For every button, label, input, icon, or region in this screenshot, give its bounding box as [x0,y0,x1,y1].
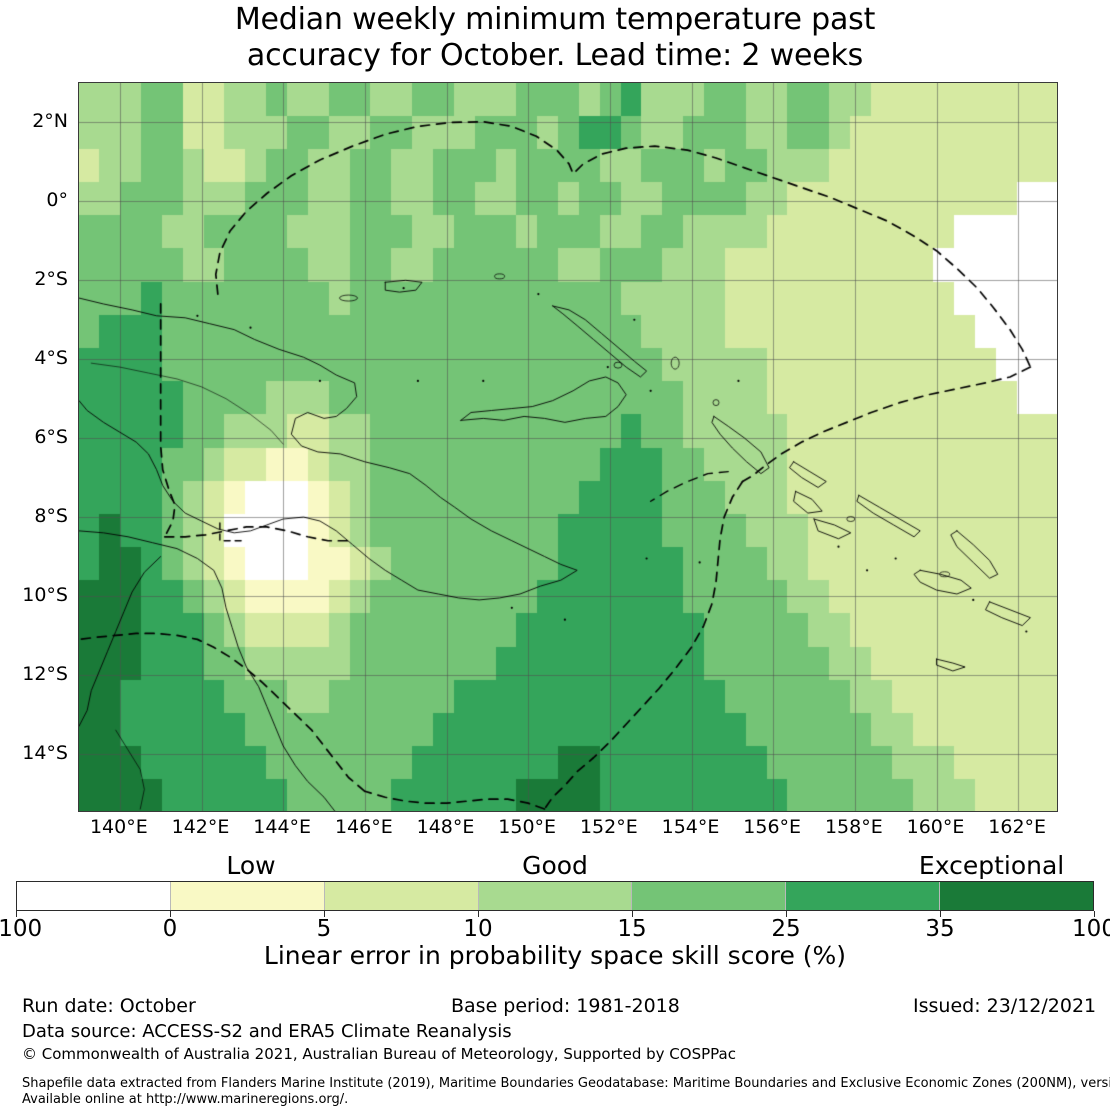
colorbar-segment-0 [17,882,171,910]
y-tick-8: 14°S [22,744,68,763]
colorbar-segment-3 [479,882,633,910]
x-tick-2: 144°E [253,818,311,837]
colorbar-ticklabel-4: 15 [617,916,646,942]
colorbar[interactable] [16,881,1094,911]
colorbar-segment-5 [786,882,940,910]
footer: Run date: October Base period: 1981-2018… [0,995,1110,1110]
colorbar-ticklabel-7: 100 [1072,916,1110,942]
page-title-line-2: accuracy for October. Lead time: 2 weeks [0,38,1110,74]
colorbar-segment-6 [940,882,1093,910]
colorbar-ticklabel-3: 10 [463,916,492,942]
colorbar-segment-2 [325,882,479,910]
y-tick-4: 6°S [34,428,68,447]
colorbar-class-good: Good [522,852,588,880]
footer-copyright: © Commonwealth of Australia 2021, Austra… [22,1045,736,1063]
footer-shapefile-line-1: Shapefile data extracted from Flanders M… [22,1076,1110,1092]
colorbar-axis-label: Linear error in probability space skill … [0,942,1110,970]
x-tick-3: 146°E [335,818,393,837]
y-tick-5: 8°S [34,507,68,526]
page-title-line-1: Median weekly minimum temperature past [0,2,1110,38]
colorbar-ticklabel-6: 35 [925,916,954,942]
page-title: Median weekly minimum temperature past a… [0,2,1110,74]
y-tick-0: 2°N [32,112,68,131]
map-plot-area[interactable] [78,82,1058,812]
x-tick-7: 154°E [662,818,720,837]
footer-shapefile-line-2: Available online at http://www.marinereg… [22,1092,348,1108]
colorbar-class-labels: LowGoodExceptional [0,852,1110,880]
x-tick-9: 158°E [825,818,883,837]
colorbar-segment-1 [171,882,325,910]
y-tick-3: 4°S [34,349,68,368]
coastline-and-eez-overlay [79,83,1058,812]
x-tick-1: 142°E [172,818,230,837]
colorbar-ticklabel-1: 0 [163,916,178,942]
map-figure [78,82,1058,812]
x-tick-10: 160°E [907,818,965,837]
footer-issued-date: Issued: 23/12/2021 [913,995,1096,1017]
colorbar-class-exceptional: Exceptional [919,852,1064,880]
colorbar-ticklabel-2: 5 [317,916,332,942]
y-tick-7: 12°S [22,665,68,684]
x-tick-11: 162°E [988,818,1046,837]
y-tick-2: 2°S [34,270,68,289]
colorbar-ticklabel-0: -100 [0,916,42,942]
colorbar-ticklabel-5: 25 [771,916,800,942]
colorbar-ticks: -1000510152535100 [0,911,1110,937]
x-tick-6: 152°E [580,818,638,837]
colorbar-segment-4 [632,882,786,910]
footer-run-date: Run date: October [22,995,196,1017]
footer-base-period: Base period: 1981-2018 [451,995,680,1017]
x-tick-5: 150°E [498,818,556,837]
colorbar-class-low: Low [226,852,275,880]
y-tick-1: 0° [46,191,68,210]
footer-data-source: Data source: ACCESS-S2 and ERA5 Climate … [22,1021,512,1042]
x-tick-8: 156°E [743,818,801,837]
y-tick-6: 10°S [22,586,68,605]
x-tick-0: 140°E [90,818,148,837]
x-tick-4: 148°E [417,818,475,837]
